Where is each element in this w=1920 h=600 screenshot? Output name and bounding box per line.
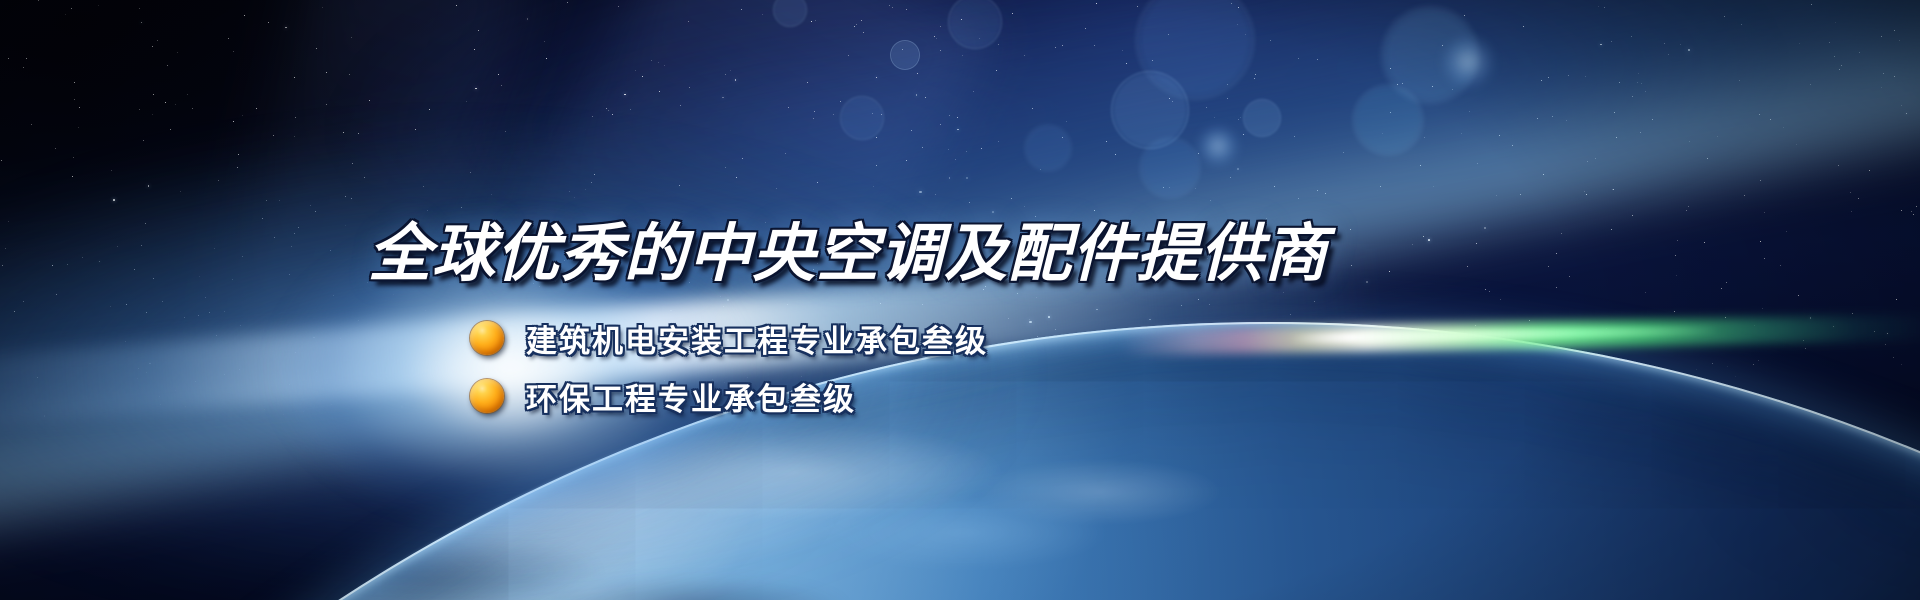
- bullet-label: 建筑机电安装工程专业承包叁级: [526, 316, 988, 361]
- orange-sphere-bullet-icon: [470, 379, 504, 413]
- banner-headline: 全球优秀的中央空调及配件提供商: [368, 203, 1548, 294]
- earth-globe: [0, 0, 1920, 600]
- orange-sphere-bullet-icon: [470, 321, 504, 355]
- list-item[interactable]: 建筑机电安装工程专业承包叁级: [470, 312, 988, 364]
- bullet-label: 环保工程专业承包叁级: [526, 374, 856, 419]
- banner-bullet-list: 建筑机电安装工程专业承包叁级 环保工程专业承包叁级: [470, 312, 988, 428]
- list-item[interactable]: 环保工程专业承包叁级: [470, 370, 988, 422]
- hero-banner: 全球优秀的中央空调及配件提供商 建筑机电安装工程专业承包叁级 环保工程专业承包叁…: [0, 0, 1920, 600]
